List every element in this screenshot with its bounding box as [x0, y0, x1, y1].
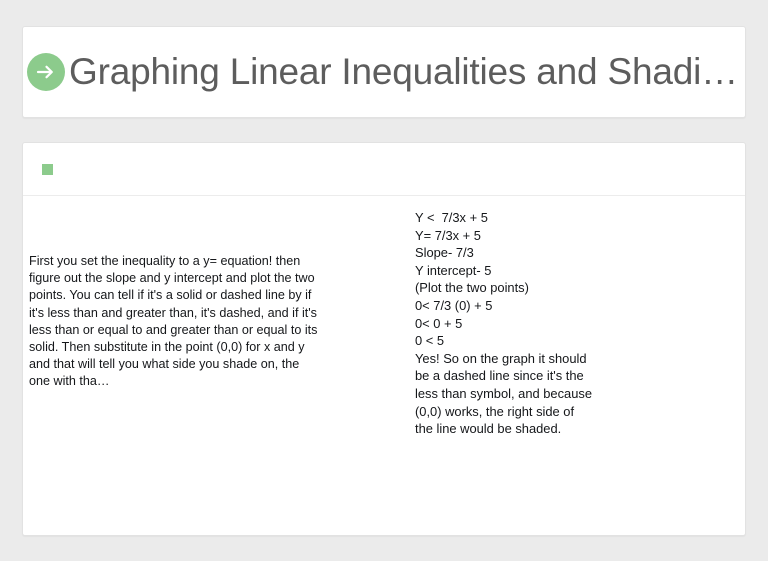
content-card: First you set the inequality to a y= equ…	[22, 142, 746, 536]
solution-line: Slope- 7/3	[415, 244, 655, 262]
solution-line: 0 < 5	[415, 332, 655, 350]
worked-solution-right: Y < 7/3x + 5 Y= 7/3x + 5 Slope- 7/3 Y in…	[415, 209, 655, 438]
solution-line: 0< 7/3 (0) + 5	[415, 297, 655, 315]
page-title: Graphing Linear Inequalities and Shadi…	[69, 50, 743, 94]
content-card-body: First you set the inequality to a y= equ…	[23, 196, 745, 535]
solution-line: be a dashed line since it's the	[415, 367, 655, 385]
solution-line: Y= 7/3x + 5	[415, 227, 655, 245]
solution-line: less than symbol, and because	[415, 385, 655, 403]
solution-line: the line would be shaded.	[415, 420, 655, 438]
solution-line: Y < 7/3x + 5	[415, 209, 655, 227]
solution-line: 0< 0 + 5	[415, 315, 655, 333]
solution-line: Y intercept- 5	[415, 262, 655, 280]
header-card[interactable]: Graphing Linear Inequalities and Shadi…	[22, 26, 746, 118]
title-row: Graphing Linear Inequalities and Shadi…	[23, 50, 745, 94]
explanation-text-left: First you set the inequality to a y= equ…	[29, 253, 321, 391]
solution-line: (0,0) works, the right side of	[415, 403, 655, 421]
solution-line: Yes! So on the graph it should	[415, 350, 655, 368]
green-square-marker-icon	[42, 164, 53, 175]
arrow-right-circle-icon[interactable]	[27, 53, 65, 91]
solution-line: (Plot the two points)	[415, 279, 655, 297]
content-card-header	[23, 143, 745, 196]
page-root: Graphing Linear Inequalities and Shadi… …	[0, 0, 768, 561]
